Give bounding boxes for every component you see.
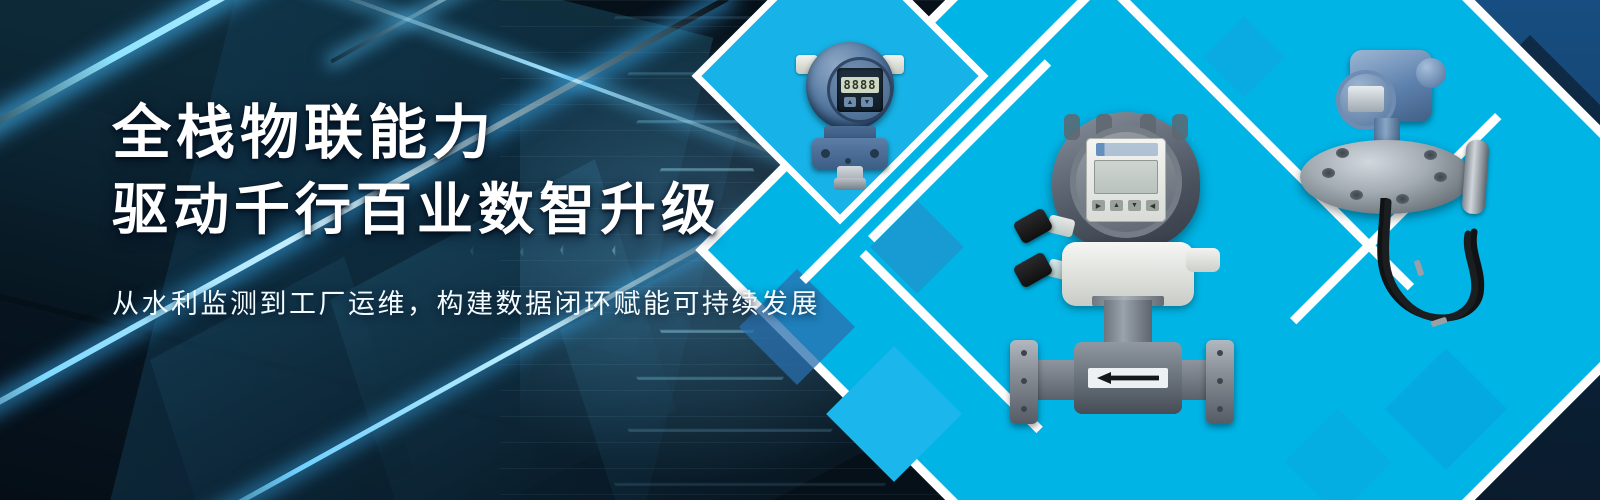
flange-bolt-hole-3: [1021, 406, 1027, 412]
headline-line-2: 驱动千行百业数智升级: [112, 182, 872, 238]
brand-logo-icon: [1096, 143, 1158, 156]
flange-bolt-hole-1: [1021, 350, 1027, 356]
hero-banner: 8888 ▲ ▼ ▶: [0, 0, 1600, 500]
flange-hole-1: [1322, 168, 1335, 178]
right-arrow-icon[interactable]: ▶: [1092, 200, 1105, 211]
cable-gland-upper-icon: [1012, 207, 1053, 244]
pressure-display-readout: 8888: [841, 77, 879, 93]
flange-bolt-hole-2: [1021, 378, 1027, 384]
flange-hole-5: [1424, 150, 1437, 160]
level-transmitter-cable: [1288, 198, 1520, 348]
cable-gland-lower-icon: [1012, 251, 1053, 288]
flowmeter-support-column: [1104, 300, 1152, 346]
flowmeter-control-panel: ▶ ▲ ▼ ◀: [1086, 138, 1166, 222]
flowmeter-flange-left: [1010, 340, 1038, 424]
product-electromagnetic-flowmeter: ▶ ▲ ▼ ◀: [1000, 112, 1250, 412]
banner-copy-block: 全栈物联能力 驱动千行百业数智升级 从水利监测到工厂运维，构建数据闭环赋能可持续…: [112, 104, 872, 321]
flowmeter-lcd-display: [1094, 160, 1158, 194]
product-level-transmitter: [1288, 48, 1520, 348]
left-arrow-icon[interactable]: ◀: [1146, 200, 1159, 211]
flange-bolt-hole-5: [1217, 378, 1223, 384]
housing-fin-1: [1064, 114, 1080, 140]
down-arrow-icon[interactable]: ▼: [1128, 200, 1141, 211]
flange-hole-4: [1434, 172, 1447, 182]
flowmeter-keypad: ▶ ▲ ▼ ◀: [1092, 200, 1159, 211]
flange-hole-6: [1336, 148, 1349, 158]
up-arrow-icon[interactable]: ▲: [1110, 200, 1123, 211]
flowmeter-side-port: [1186, 248, 1220, 272]
flange-bolt-hole-4: [1217, 350, 1223, 356]
flow-direction-arrow-icon: [1088, 368, 1168, 388]
level-transmitter-display-window: [1348, 86, 1384, 112]
banner-subtitle: 从水利监测到工厂运维，构建数据闭环赋能可持续发展: [112, 282, 872, 321]
headline-line-1: 全栈物联能力: [112, 104, 872, 163]
flowmeter-flange-right: [1206, 340, 1234, 424]
level-transmitter-side-cap: [1416, 58, 1446, 88]
housing-fin-4: [1172, 114, 1188, 140]
flange-bolt-hole-6: [1217, 406, 1223, 412]
